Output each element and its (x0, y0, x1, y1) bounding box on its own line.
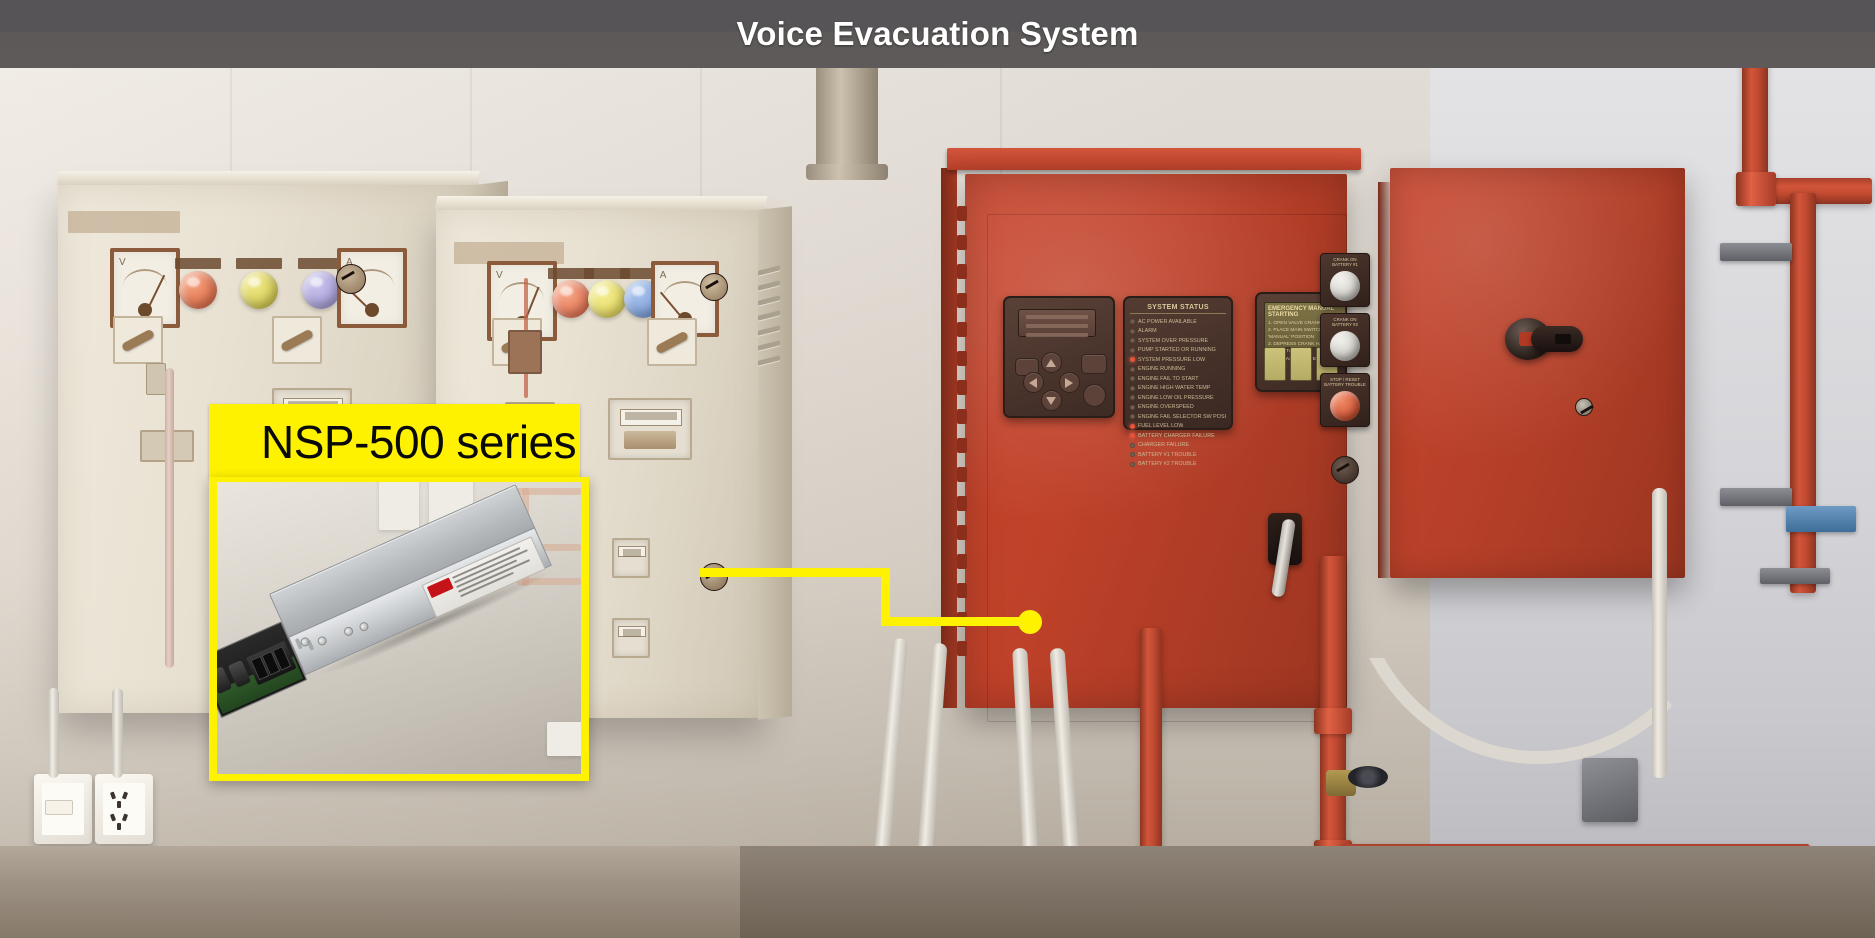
status-led (1130, 376, 1135, 381)
panel-1-top-strip (68, 211, 180, 233)
callout-label: NSP-500 series (209, 404, 580, 480)
status-led (1130, 395, 1135, 400)
controller-lcd (1018, 309, 1096, 337)
controller-left-edge (941, 168, 957, 708)
status-row: ENGINE OVERSPEED (1130, 403, 1226, 413)
status-label: ENGINE FAIL TO START (1138, 376, 1199, 382)
controller-status-panel: SYSTEM STATUS AC POWER AVAILABLEALARMSYS… (1123, 296, 1233, 430)
status-label: ENGINE LOW OIL PRESSURE (1138, 395, 1214, 401)
status-row: ENGINE RUNNING (1130, 365, 1226, 375)
status-led (1130, 414, 1135, 419)
status-label: ALARM (1138, 328, 1157, 334)
sprinkler-drop-right (1790, 193, 1816, 593)
ceiling-duct (816, 68, 878, 176)
pipe-coupler (1736, 172, 1776, 206)
pipe-hanger (1720, 488, 1792, 506)
status-row: ENGINE LOW OIL PRESSURE (1130, 393, 1226, 403)
disconnect-cabinet[interactable] (1390, 168, 1685, 578)
status-label: PUMP STARTED OR RUNNING (1138, 347, 1216, 353)
status-label: FUEL LEVEL LOW (1138, 423, 1183, 429)
indicator-lamp-red[interactable] (179, 271, 217, 309)
power-outlet[interactable] (95, 774, 153, 844)
rotary-lever[interactable] (1531, 326, 1583, 352)
wall-pipe (165, 368, 174, 668)
pilot-light-battery-1[interactable]: CRANK ONBATTERY #1 (1320, 253, 1370, 307)
panel-2-small-device-2 (612, 618, 650, 658)
callout-leader-h2 (881, 617, 1031, 626)
status-label: ENGINE OVERSPEED (1138, 404, 1194, 410)
page-title: Voice Evacuation System (737, 15, 1139, 53)
status-led (1130, 357, 1135, 362)
manual-crank-2-button[interactable] (1290, 347, 1312, 382)
status-led (1130, 386, 1135, 391)
status-row: SYSTEM PRESSURE LOW (1130, 355, 1226, 365)
status-label: BATTERY #2 TROUBLE (1138, 461, 1197, 467)
status-row: ENGINE HIGH WATER TEMP (1130, 384, 1226, 394)
status-row: AC POWER AVAILABLE (1130, 317, 1226, 327)
status-led (1130, 424, 1135, 429)
status-row-list: AC POWER AVAILABLEALARMSYSTEM OVER PRESS… (1130, 317, 1226, 469)
status-led (1130, 367, 1135, 372)
sprinkler-riser (1742, 68, 1768, 188)
status-led (1130, 338, 1135, 343)
duct-flange (806, 164, 888, 180)
status-led (1130, 443, 1135, 448)
callout-label-text: NSP-500 series (209, 415, 576, 469)
panel-1-selector-switch-2[interactable] (272, 316, 322, 364)
panel-2-small-device (612, 538, 650, 578)
status-label: ENGINE HIGH WATER TEMP (1138, 385, 1210, 391)
panel-1-lock[interactable] (336, 264, 366, 294)
panel-2-energy-meter (608, 398, 692, 460)
disconnect-cabinet-body (1390, 168, 1685, 578)
status-led (1130, 319, 1135, 324)
status-led (1130, 348, 1135, 353)
status-label: CHARGER FAILURE (1138, 442, 1189, 448)
status-led (1130, 329, 1135, 334)
screenshot-root: Voice Evacuation System V (0, 0, 1875, 938)
status-row: CHARGER FAILURE (1130, 441, 1226, 451)
status-row: BATTERY CHARGER FAILURE (1130, 431, 1226, 441)
panel-2-vent (758, 268, 780, 373)
pilot-light-battery-2[interactable]: CRANK ONBATTERY #2 (1320, 313, 1370, 367)
panel-1-top (57, 171, 480, 185)
controller-keypad[interactable] (1015, 352, 1104, 406)
inset-bg-plate (379, 482, 419, 530)
down-key[interactable] (1041, 390, 1062, 411)
panel-2-top (435, 196, 768, 210)
panel-1-lamp-tag (236, 258, 282, 269)
pipe-hanger (1720, 243, 1792, 261)
callout-leader-h1 (700, 568, 890, 577)
manual-crank-1-button[interactable] (1264, 347, 1286, 382)
right-key[interactable] (1059, 372, 1080, 393)
pilot-lens-1 (1330, 271, 1360, 301)
status-label: SYSTEM PRESSURE LOW (1138, 357, 1205, 363)
pipe-support-bracket (1786, 506, 1856, 532)
callout-product-image (217, 482, 581, 774)
pilot-label-2: CRANK ONBATTERY #2 (1324, 317, 1366, 328)
inset-bg-socket (547, 722, 581, 756)
up-key[interactable] (1041, 352, 1062, 373)
enter-key[interactable] (1081, 354, 1107, 374)
panel-1-lamp-tag (175, 258, 221, 269)
pipe-coupler (1314, 708, 1352, 734)
status-label: BATTERY CHARGER FAILURE (1138, 433, 1215, 439)
status-row: BATTERY #2 TROUBLE (1130, 460, 1226, 470)
status-led (1130, 452, 1135, 457)
status-row: BATTERY #1 TROUBLE (1130, 450, 1226, 460)
controller-canopy (947, 148, 1361, 170)
controller-display-module[interactable] (1003, 296, 1115, 418)
meanwell-logo (427, 577, 454, 598)
white-conduit-drop (1652, 488, 1667, 778)
reset-key[interactable] (1083, 384, 1106, 407)
status-label: ENGINE RUNNING (1138, 366, 1185, 372)
pilot-label-1: CRANK ONBATTERY #1 (1324, 257, 1366, 268)
status-label: AC POWER AVAILABLE (1138, 319, 1197, 325)
status-led (1130, 405, 1135, 410)
pilot-lens-2 (1330, 331, 1360, 361)
indicator-lamp-blue[interactable] (302, 271, 340, 309)
pipe-hanger (1760, 568, 1830, 584)
pilot-lens-3 (1330, 391, 1360, 421)
status-row: ENGINE FAIL SELECTOR SW POSITION (1130, 412, 1226, 422)
callout-anchor-dot (1018, 610, 1042, 634)
controller-hinge-strip (957, 206, 967, 676)
socket-top (111, 792, 127, 808)
status-row: ALARM (1130, 327, 1226, 337)
status-label: SYSTEM OVER PRESSURE (1138, 338, 1208, 344)
title-bar: Voice Evacuation System (0, 0, 1875, 68)
disconnect-cabinet-keyhole[interactable] (1575, 398, 1593, 416)
panel-1-hinge (146, 363, 166, 395)
left-key[interactable] (1023, 372, 1044, 393)
status-row: SYSTEM OVER PRESSURE (1130, 336, 1226, 346)
indicator-lamp-yellow[interactable] (240, 271, 278, 309)
electrical-junction-box (1582, 758, 1638, 822)
panel-conduit-box (508, 330, 542, 374)
pilot-label-3: STOP / RESETBATTERY TROUBLE (1324, 377, 1366, 388)
status-row: ENGINE FAIL TO START (1130, 374, 1226, 384)
scene-photo: V A (0, 68, 1875, 938)
floor-shadow (740, 846, 1875, 938)
status-row: PUMP STARTED OR RUNNING (1130, 346, 1226, 356)
panel-2-lock[interactable] (700, 273, 728, 301)
status-panel-heading: SYSTEM STATUS (1130, 304, 1226, 314)
controller-keyhole[interactable] (1331, 456, 1359, 484)
status-led (1130, 462, 1135, 467)
status-label: ENGINE FAIL SELECTOR SW POSITION (1138, 414, 1226, 420)
switch-rocker[interactable] (45, 800, 73, 815)
indicator-lamp-red-2[interactable] (552, 280, 590, 318)
status-row: FUEL LEVEL LOW (1130, 422, 1226, 432)
socket-bottom (111, 814, 127, 830)
panel-2-selector-switch-2[interactable] (647, 318, 697, 366)
wall-conduit (48, 688, 59, 778)
wall-conduit (112, 688, 123, 778)
panel-1-selector-switch[interactable] (113, 316, 163, 364)
rotary-disconnect-switch[interactable] (1505, 318, 1583, 360)
pilot-light-battery-trouble[interactable]: STOP / RESETBATTERY TROUBLE (1320, 373, 1370, 427)
status-led (1130, 433, 1135, 438)
status-label: BATTERY #1 TROUBLE (1138, 452, 1197, 458)
controller-door-handle[interactable] (1268, 513, 1302, 565)
indicator-lamp-yellow-2[interactable] (588, 280, 626, 318)
light-switch[interactable] (34, 774, 92, 844)
